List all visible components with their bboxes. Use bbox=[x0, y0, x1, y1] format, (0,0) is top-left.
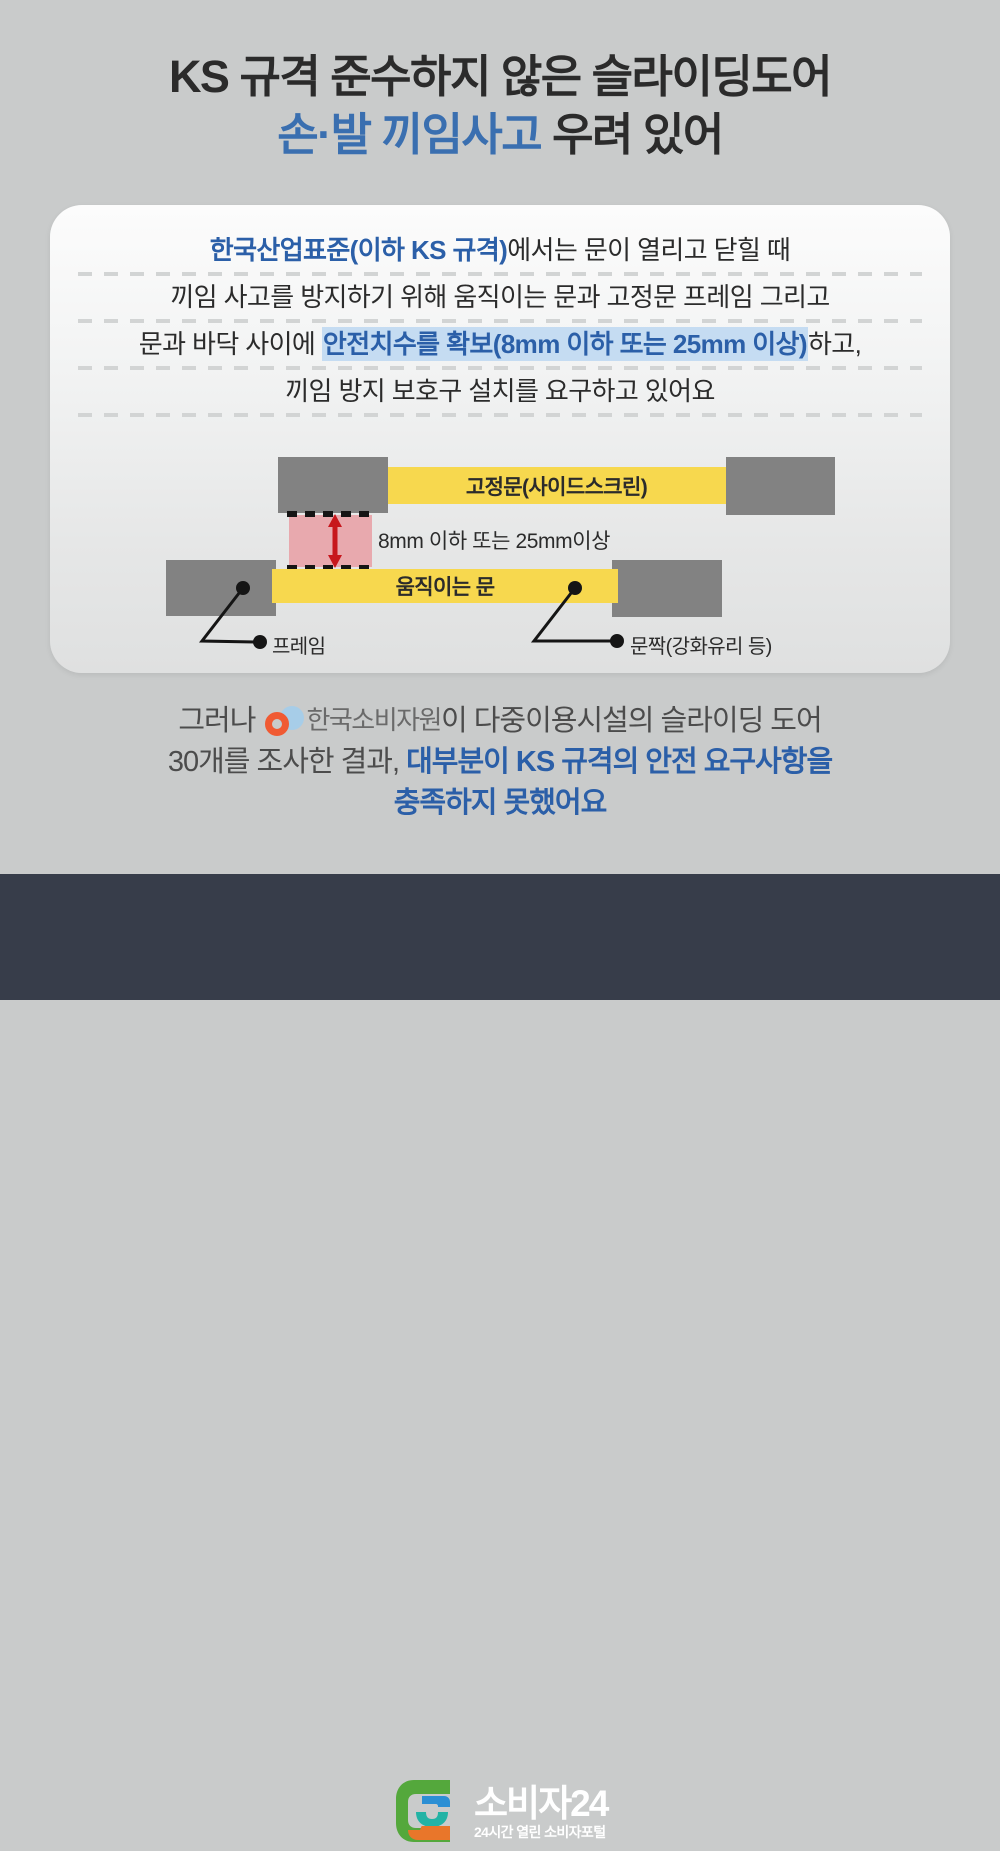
door-panel-callout-dot-label bbox=[610, 634, 624, 648]
diagram-vector-overlay bbox=[50, 445, 950, 673]
info-card: 한국산업표준(이하 KS 규격)에서는 문이 열리고 닫힐 때 끼임 사고를 방… bbox=[50, 205, 950, 673]
safety-dimension-highlight: 안전치수를 확보(8mm 이하 또는 25mm 이상) bbox=[322, 327, 808, 361]
dotted-divider-4 bbox=[78, 413, 922, 417]
frame-label: 프레임 bbox=[272, 630, 325, 659]
bottom-line-2-bold: 대부분이 KS 규격의 안전 요구사항을 bbox=[406, 746, 832, 778]
frame-callout-dot-anchor bbox=[236, 581, 250, 595]
bottom-line-3-bold: 충족하지 못했어요 bbox=[394, 787, 607, 819]
kca-org-name: 한국소비자원 bbox=[306, 705, 441, 735]
bottom-text-block: 그러나 한국소비자원이 다중이용시설의 슬라이딩 도어 30개를 조사한 결과,… bbox=[0, 700, 1000, 824]
paragraph-block: 한국산업표준(이하 KS 규격)에서는 문이 열리고 닫힐 때 끼임 사고를 방… bbox=[50, 227, 950, 415]
logo-svg bbox=[392, 1776, 460, 1846]
paragraph-line-4: 끼임 방지 보호구 설치를 요구하고 있어요 bbox=[50, 368, 950, 415]
paragraph-line-1: 한국산업표준(이하 KS 규격)에서는 문이 열리고 닫힐 때 bbox=[50, 227, 950, 274]
title-line-2-rest: 우려 있어 bbox=[541, 109, 723, 160]
title-line-1: KS 규격 준수하지 않은 슬라이딩도어 bbox=[0, 48, 1000, 106]
bottom-line-1: 그러나 한국소비자원이 다중이용시설의 슬라이딩 도어 bbox=[0, 700, 1000, 742]
bottom-line-1-post: 이 다중이용시설의 슬라이딩 도어 bbox=[441, 705, 822, 737]
consumer24-logo[interactable]: 소비자24 24시간 열린 소비자포털 bbox=[392, 1776, 607, 1846]
logo-title: 소비자24 bbox=[474, 1784, 607, 1824]
title-line-2: 손·발 끼임사고 우려 있어 bbox=[0, 106, 1000, 164]
footer-bar: 소비자24 24시간 열린 소비자포털 bbox=[0, 874, 1000, 1000]
logo-teal-smile bbox=[416, 1812, 448, 1827]
paragraph-row-1: 한국산업표준(이하 KS 규격)에서는 문이 열리고 닫힐 때 bbox=[50, 227, 950, 274]
paragraph-row-2: 끼임 사고를 방지하기 위해 움직이는 문과 고정문 프레임 그리고 bbox=[50, 274, 950, 321]
kca-logo-icon bbox=[264, 706, 304, 736]
bottom-line-2: 30개를 조사한 결과, 대부분이 KS 규격의 안전 요구사항을 bbox=[0, 742, 1000, 783]
paragraph-line-3-post: 하고, bbox=[808, 329, 861, 359]
ks-standard-term: 한국산업표준(이하 KS 규격) bbox=[210, 235, 507, 265]
frame-callout-line bbox=[202, 588, 255, 642]
bottom-line-2-pre: 30개를 조사한 결과, bbox=[168, 746, 406, 778]
paragraph-row-4: 끼임 방지 보호구 설치를 요구하고 있어요 bbox=[50, 368, 950, 415]
gap-arrow-head-up bbox=[328, 514, 342, 527]
page-title: KS 규격 준수하지 않은 슬라이딩도어 손·발 끼임사고 우려 있어 bbox=[0, 48, 1000, 163]
logo-tagline: 24시간 열린 소비자포털 bbox=[474, 1824, 607, 1841]
bottom-line-1-pre: 그러나 bbox=[178, 705, 262, 737]
kca-orange-ring bbox=[265, 712, 289, 736]
paragraph-line-3: 문과 바닥 사이에 안전치수를 확보(8mm 이하 또는 25mm 이상)하고, bbox=[50, 321, 950, 368]
door-panel-label: 문짝(강화유리 등) bbox=[630, 630, 772, 659]
paragraph-line-2: 끼임 사고를 방지하기 위해 움직이는 문과 고정문 프레임 그리고 bbox=[50, 274, 950, 321]
frame-callout-dot-label bbox=[253, 635, 267, 649]
door-panel-callout-line bbox=[534, 588, 612, 641]
bottom-line-3: 충족하지 못했어요 bbox=[0, 783, 1000, 824]
title-highlight: 손·발 끼임사고 bbox=[277, 109, 541, 160]
paragraph-row-3: 문과 바닥 사이에 안전치수를 확보(8mm 이하 또는 25mm 이상)하고, bbox=[50, 321, 950, 368]
sliding-door-diagram: 고정문(사이드스크린) 움직이는 문 8mm 이하 또는 25mm이상 bbox=[50, 445, 950, 673]
logo-text-group: 소비자24 24시간 열린 소비자포털 bbox=[474, 1782, 607, 1841]
paragraph-line-1-rest: 에서는 문이 열리고 닫힐 때 bbox=[507, 235, 790, 265]
paragraph-line-3-pre: 문과 바닥 사이에 bbox=[139, 329, 322, 359]
logo-blue-arc bbox=[422, 1796, 450, 1807]
gap-arrow-head-down bbox=[328, 555, 342, 568]
consumer24-logo-mark-icon bbox=[392, 1776, 460, 1846]
door-panel-callout-dot-anchor bbox=[568, 581, 582, 595]
